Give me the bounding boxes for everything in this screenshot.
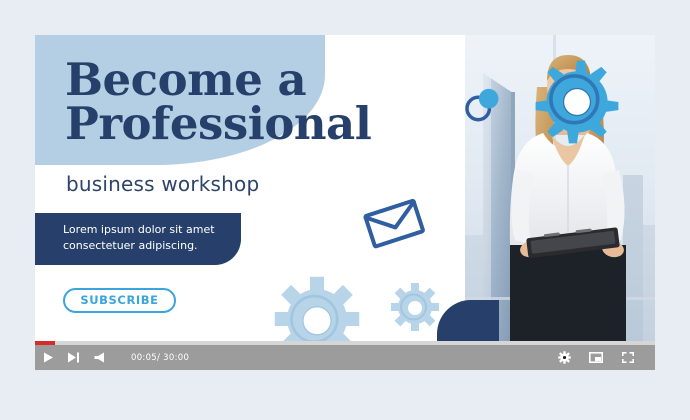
subtitle: business workshop [66,172,259,196]
caption-line-2: consectetuer adipiscing. [63,238,223,254]
screenshot-canvas: Become a Professional business workshop … [0,0,690,420]
progress-played [35,341,55,345]
miniplayer-button[interactable] [583,345,609,370]
caption-line-1: Lorem ipsum dolor sit amet [63,222,223,238]
headline-line-2: Professional [65,102,371,146]
page-title: Become a Professional [65,58,371,146]
settings-button[interactable] [551,345,577,370]
subscribe-button[interactable]: SUBSCRIBE [63,288,176,313]
gear-icon [558,351,571,364]
player-control-bar[interactable]: 00:05/ 30:00 [35,345,655,370]
next-track-icon [68,352,80,363]
volume-icon [94,352,106,363]
envelope-icon [360,197,428,249]
gear-pale-small-icon [390,282,440,332]
fullscreen-button[interactable] [615,345,641,370]
circles-icon [460,85,502,125]
fullscreen-icon [622,352,634,363]
volume-button[interactable] [87,345,113,370]
caption-panel: Lorem ipsum dolor sit amet consectetuer … [35,213,241,265]
play-button[interactable] [35,345,61,370]
gear-pale-large-icon [273,275,361,345]
video-player[interactable]: Become a Professional business workshop … [35,35,655,370]
gear-large-icon [532,57,622,147]
miniplayer-icon [589,352,603,363]
video-thumbnail[interactable]: Become a Professional business workshop … [35,35,655,345]
navy-accent-block [437,300,499,345]
progress-bar[interactable] [35,341,655,345]
next-track-button[interactable] [61,345,87,370]
play-icon [43,352,54,363]
time-display: 00:05/ 30:00 [131,353,189,363]
